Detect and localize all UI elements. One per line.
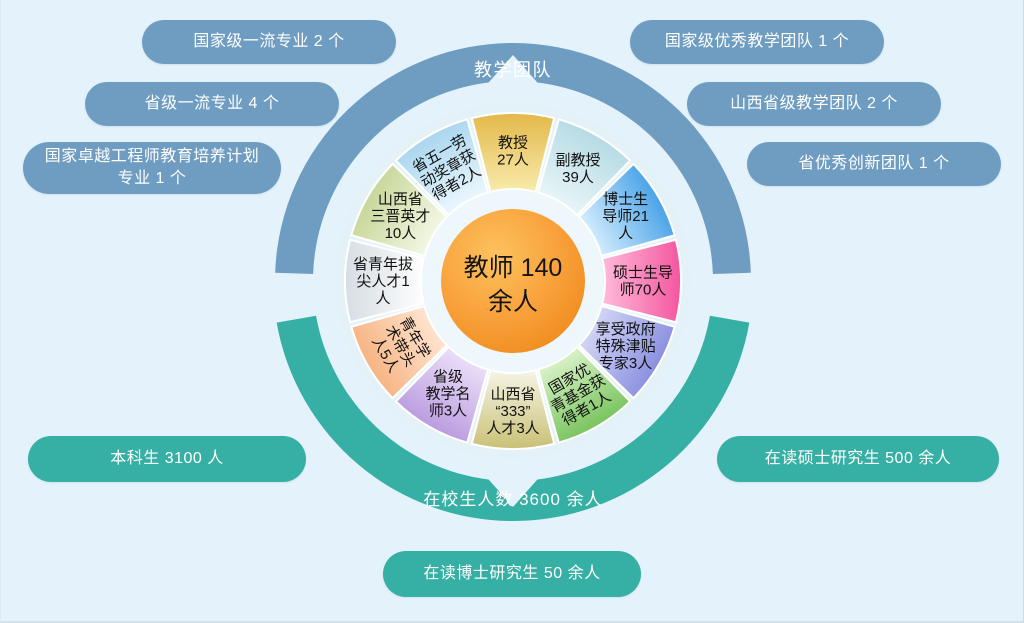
donut-slice-label-line: 教学名 [425, 386, 470, 403]
donut-slice-label: 教授27人 [497, 135, 529, 169]
center-line-1: 教师 140 [464, 254, 563, 282]
donut-slice-label-line: 师70人 [620, 282, 667, 299]
infographic-canvas: 教授27人副教授39人博士生导师21人硕士生导师70人享受政府特殊津贴专家3人国… [0, 0, 1024, 623]
callout-excellent-engineer-program[interactable]: 国家卓越工程师教育培养计划 专业 1 个 [23, 142, 281, 194]
donut-slice-label-line: 师3人 [429, 403, 467, 420]
callout-national-teaching-team[interactable]: 国家级优秀教学团队 1 个 [630, 20, 884, 64]
donut-slice-label-line: 享受政府 [596, 321, 656, 338]
callout-doctoral-students-count[interactable]: 在读博士研究生 50 余人 [383, 551, 641, 597]
donut-slice-label-line: 专家3人 [599, 355, 652, 372]
donut-slice-label-line: 人 [375, 290, 390, 307]
top-band-label: 教学团队 [474, 60, 552, 80]
donut-slice-label-line: 山西省 [378, 191, 423, 208]
donut-slice-label: 副教授39人 [555, 152, 600, 186]
donut-slice-label-line: 教授 [498, 135, 528, 152]
donut-slice-label-line: 人 [618, 225, 633, 242]
bottom-band-label: 在校生人数 3600 余人 [423, 490, 602, 509]
callout-national-first-class-major[interactable]: 国家级一流专业 2 个 [142, 20, 396, 64]
callout-shanxi-teaching-team[interactable]: 山西省级教学团队 2 个 [687, 82, 941, 126]
donut-slice-label-line: 人才3人 [486, 420, 539, 437]
donut-slice-label: 享受政府特殊津贴专家3人 [596, 321, 656, 372]
donut-slice-label-line: 导师21 [602, 208, 649, 225]
donut-slice-label-line: 10人 [385, 225, 417, 242]
donut-slice-label-line: 省青年拔 [353, 256, 413, 273]
callout-undergraduate-count[interactable]: 本科生 3100 人 [28, 436, 306, 482]
donut-slice-label-line: 三晋英才 [370, 207, 430, 225]
callout-provincial-first-class-major[interactable]: 省级一流专业 4 个 [85, 82, 339, 126]
donut-slice-label-line: 硕士生导 [613, 265, 673, 282]
donut-slice-label: 硕士生导师70人 [613, 265, 673, 299]
donut-slice-label-line: 副教授 [555, 152, 600, 169]
callout-master-students-count[interactable]: 在读硕士研究生 500 余人 [717, 436, 999, 482]
donut-slice-label-line: “333” [495, 403, 530, 420]
donut-slice-label-line: 27人 [497, 152, 529, 169]
callout-provincial-innovation-team[interactable]: 省优秀创新团队 1 个 [747, 142, 1001, 186]
donut-slice-label-line: 山西省 [490, 386, 535, 403]
donut-slice-label-line: 博士生 [603, 191, 648, 208]
donut-slice-label-line: 省级 [433, 369, 463, 386]
center-line-2: 余人 [488, 288, 538, 316]
donut-slice-label-line: 特殊津贴 [596, 338, 656, 355]
donut-slice-label-line: 39人 [562, 169, 594, 186]
donut-slice-label-line: 尖人才1 [356, 273, 409, 290]
